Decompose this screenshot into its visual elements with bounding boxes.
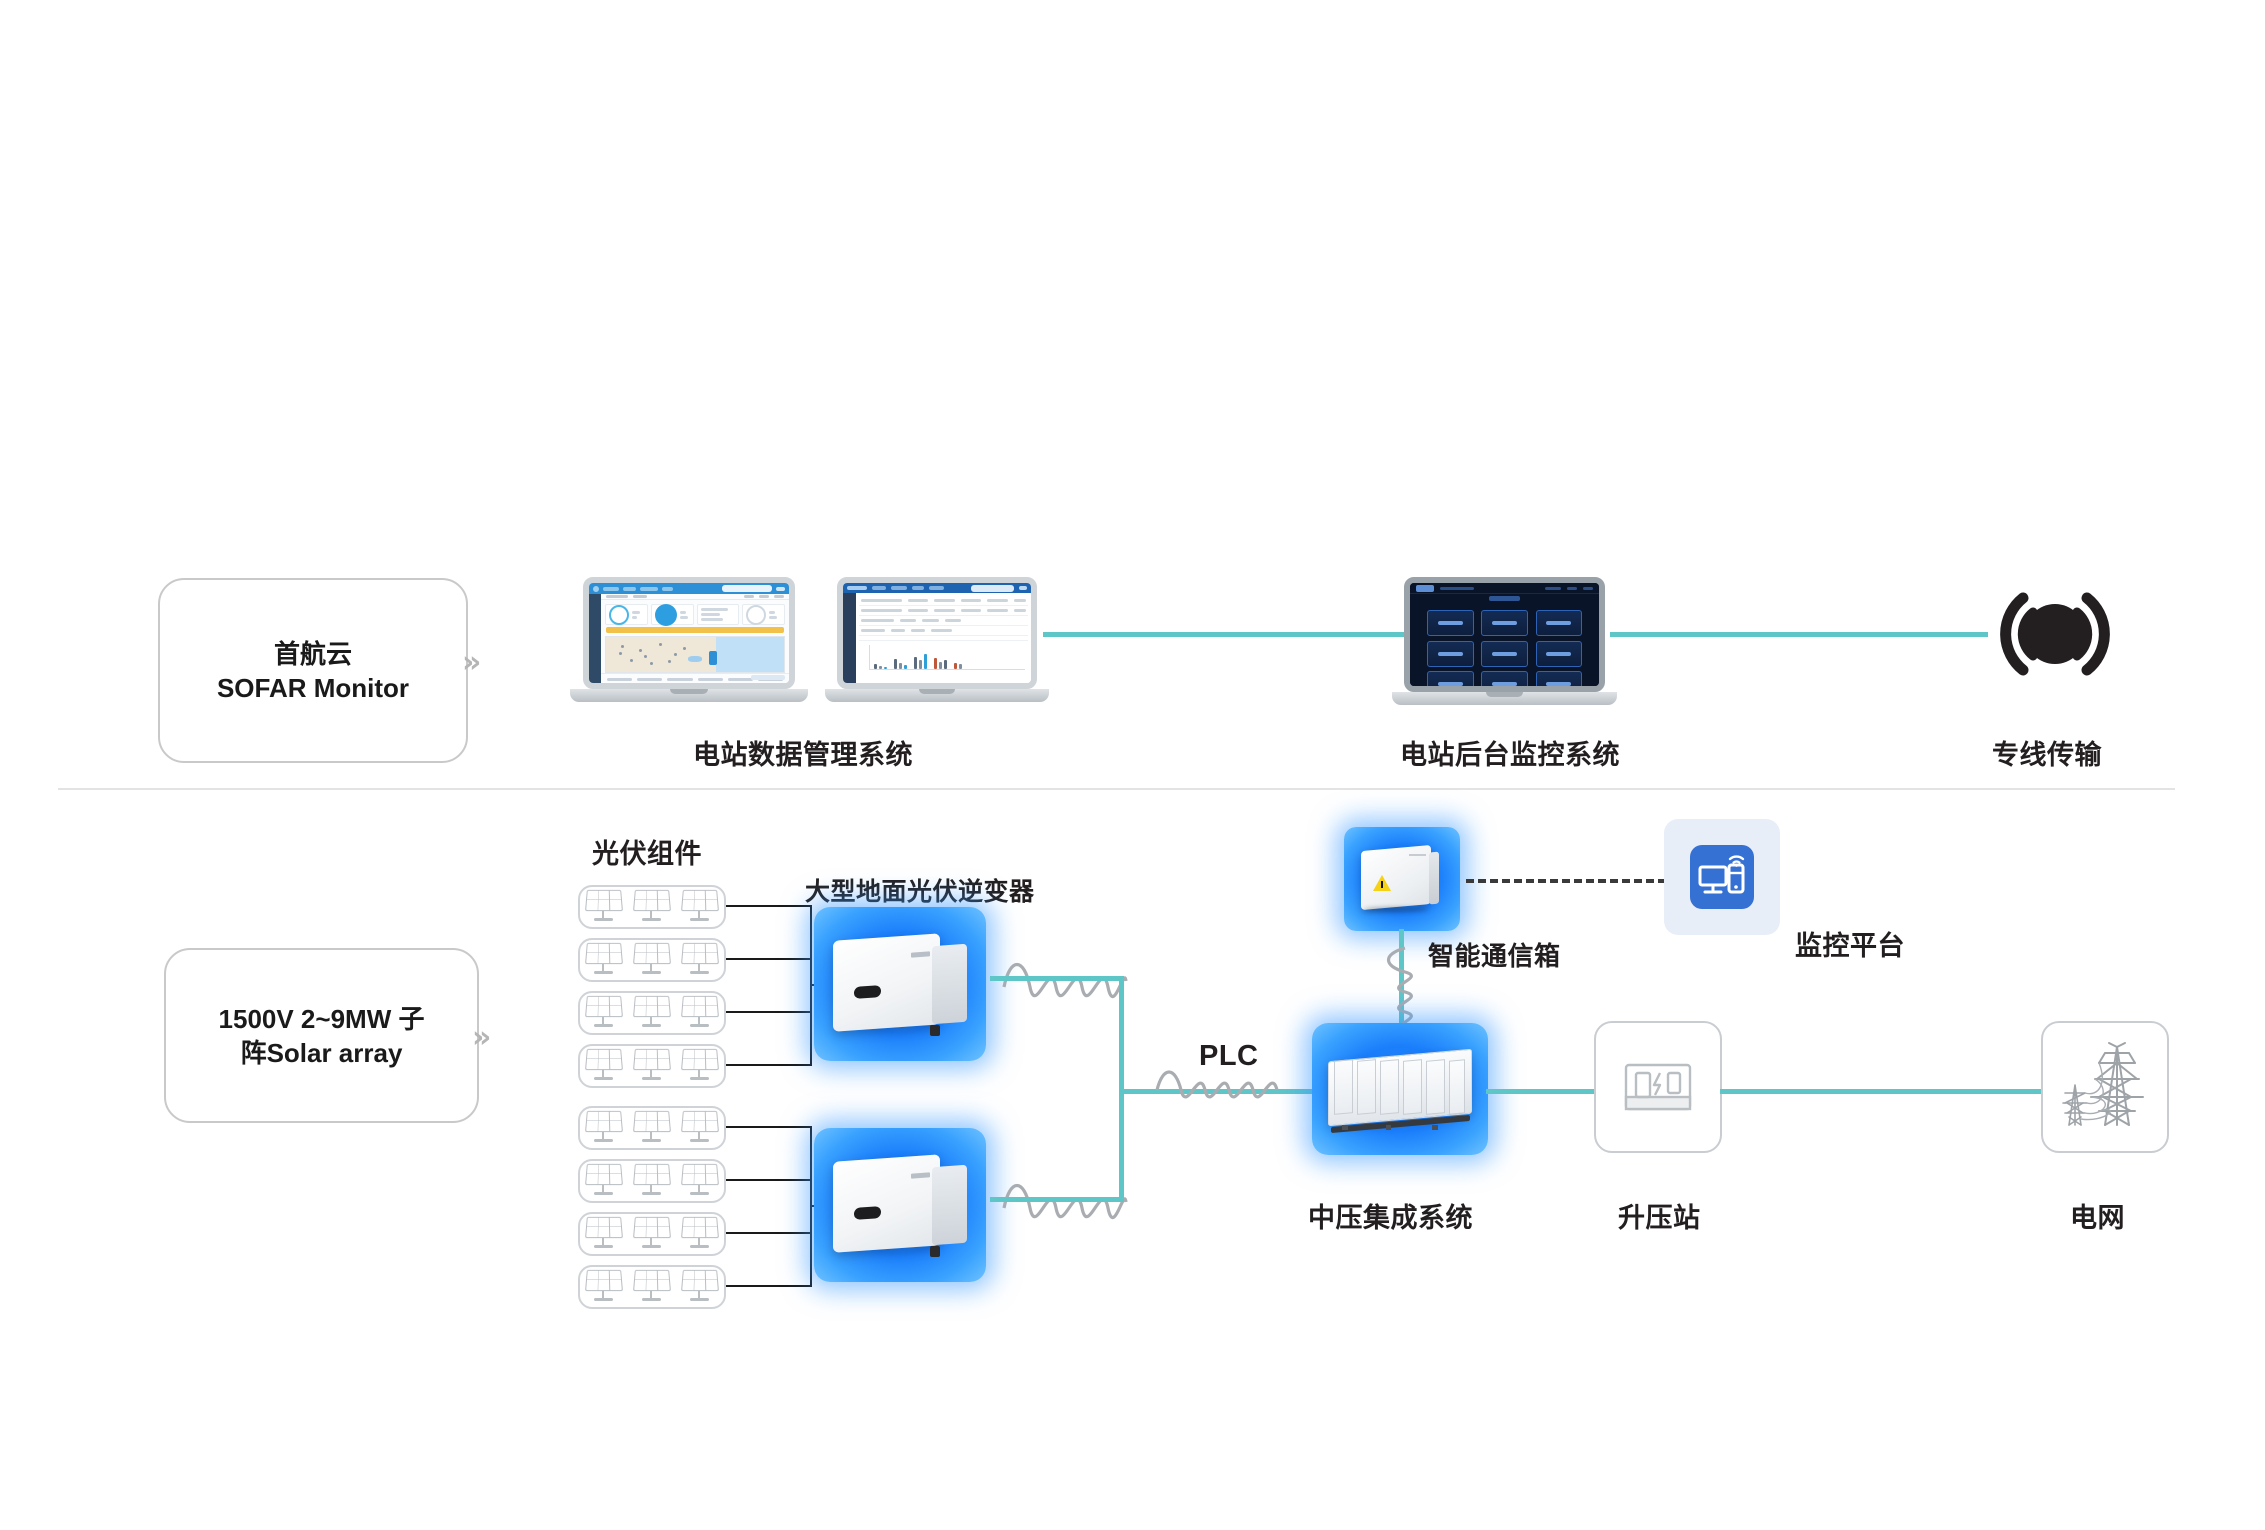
solar-panel-icon <box>632 1161 672 1201</box>
pv-bus-wire <box>726 958 812 960</box>
transmission-tower-icon[interactable] <box>2041 1021 2169 1153</box>
section-divider <box>58 788 2175 790</box>
solar-panel-icon <box>680 940 720 980</box>
pv-bus-wire <box>726 1011 812 1013</box>
laptop-data-management-right[interactable] <box>837 577 1037 702</box>
line-mv-to-booster <box>1486 1089 1596 1094</box>
label-booster-station: 升压站 <box>1618 1196 1701 1235</box>
line-inverter-top-out <box>990 976 1124 981</box>
pv-row <box>578 1106 726 1150</box>
screen-reports <box>843 583 1031 683</box>
solar-panel-icon <box>632 940 672 980</box>
solar-panel-icon <box>584 993 624 1033</box>
tag-sofar-cloud[interactable]: 首航云 SOFAR Monitor <box>158 578 468 763</box>
connector-top-left <box>1043 632 1413 637</box>
laptop-backend-monitor[interactable] <box>1404 577 1605 705</box>
label-data-management-system: 电站数据管理系统 <box>693 733 913 772</box>
label-mv-system: 中压集成系统 <box>1308 1196 1473 1235</box>
tag-solar-array[interactable]: 1500V 2~9MW 子 阵Solar array <box>164 948 479 1123</box>
solar-panel-icon <box>680 1161 720 1201</box>
solar-panel-icon <box>680 1046 720 1086</box>
communication-box-icon[interactable] <box>1344 827 1460 931</box>
pv-bus-wire <box>726 1126 812 1128</box>
screen-backend-console <box>1410 583 1599 686</box>
pv-bus-wire <box>726 1232 812 1234</box>
solar-panel-icon <box>632 887 672 927</box>
tag-sofar-line1: 首航云 <box>217 637 409 671</box>
solar-panel-icon <box>680 1267 720 1307</box>
pv-row <box>578 1044 726 1088</box>
solar-panel-icon <box>584 887 624 927</box>
chevron-right-icon-bottom: » <box>472 1020 491 1055</box>
label-backend-monitor-system: 电站后台监控系统 <box>1400 733 1620 772</box>
solar-panel-icon <box>680 993 720 1033</box>
plc-waveform-icon <box>1155 1068 1283 1117</box>
pv-row <box>578 885 726 929</box>
solar-panel-icon <box>584 940 624 980</box>
label-pv-modules: 光伏组件 <box>592 832 702 871</box>
pv-bus-wire <box>726 905 812 907</box>
pv-bus-wire <box>726 1064 812 1066</box>
solar-panel-icon <box>632 1267 672 1307</box>
monitor-platform-panel[interactable] <box>1664 819 1780 935</box>
solar-panel-icon <box>632 1046 672 1086</box>
solar-panel-icon <box>584 1161 624 1201</box>
solar-panel-icon <box>584 1108 624 1148</box>
solar-panel-icon <box>680 1214 720 1254</box>
pv-row <box>578 1265 726 1309</box>
solar-panel-icon <box>584 1046 624 1086</box>
solar-panel-icon <box>632 1108 672 1148</box>
line-booster-to-grid <box>1720 1089 2060 1094</box>
laptop-data-management-left[interactable] <box>583 577 795 702</box>
label-grid: 电网 <box>2070 1196 2125 1235</box>
tag-array-line2: 阵Solar array <box>219 1036 425 1070</box>
pv-row <box>578 1212 726 1256</box>
solar-panel-icon <box>680 887 720 927</box>
pv-row <box>578 991 726 1035</box>
pv-bus-wire <box>726 1285 812 1287</box>
line-inverter-bottom-out <box>990 1197 1124 1202</box>
mv-system-icon[interactable] <box>1312 1023 1488 1155</box>
chevron-right-icon-top: » <box>462 645 481 680</box>
solar-panel-icon <box>632 993 672 1033</box>
label-dedicated-line: 专线传输 <box>1992 733 2102 772</box>
diagram-canvas: 首航云 SOFAR Monitor » <box>0 0 2265 1530</box>
broadcast-antenna-icon <box>1985 578 2125 690</box>
solar-panel-icon <box>632 1214 672 1254</box>
solar-panel-icon <box>584 1267 624 1307</box>
label-inverter: 大型地面光伏逆变器 <box>805 872 1035 908</box>
monitor-desktop-icon <box>1690 845 1754 909</box>
booster-station-icon[interactable] <box>1594 1021 1722 1153</box>
inverter-icon-bottom[interactable] <box>814 1128 986 1282</box>
tag-sofar-line2: SOFAR Monitor <box>217 671 409 705</box>
connector-dashed-comm-platform <box>1466 879 1666 883</box>
connector-top-right <box>1610 632 1988 637</box>
pv-row <box>578 938 726 982</box>
label-comm-box: 智能通信箱 <box>1428 936 1561 973</box>
pv-row <box>578 1159 726 1203</box>
label-monitor-platform: 监控平台 <box>1795 924 1905 963</box>
inverter-icon-top[interactable] <box>814 907 986 1061</box>
tag-array-line1: 1500V 2~9MW 子 <box>219 1002 425 1036</box>
screen-dashboard <box>589 583 789 683</box>
solar-panel-icon <box>584 1214 624 1254</box>
solar-panel-icon <box>680 1108 720 1148</box>
pv-bus-wire <box>726 1179 812 1181</box>
